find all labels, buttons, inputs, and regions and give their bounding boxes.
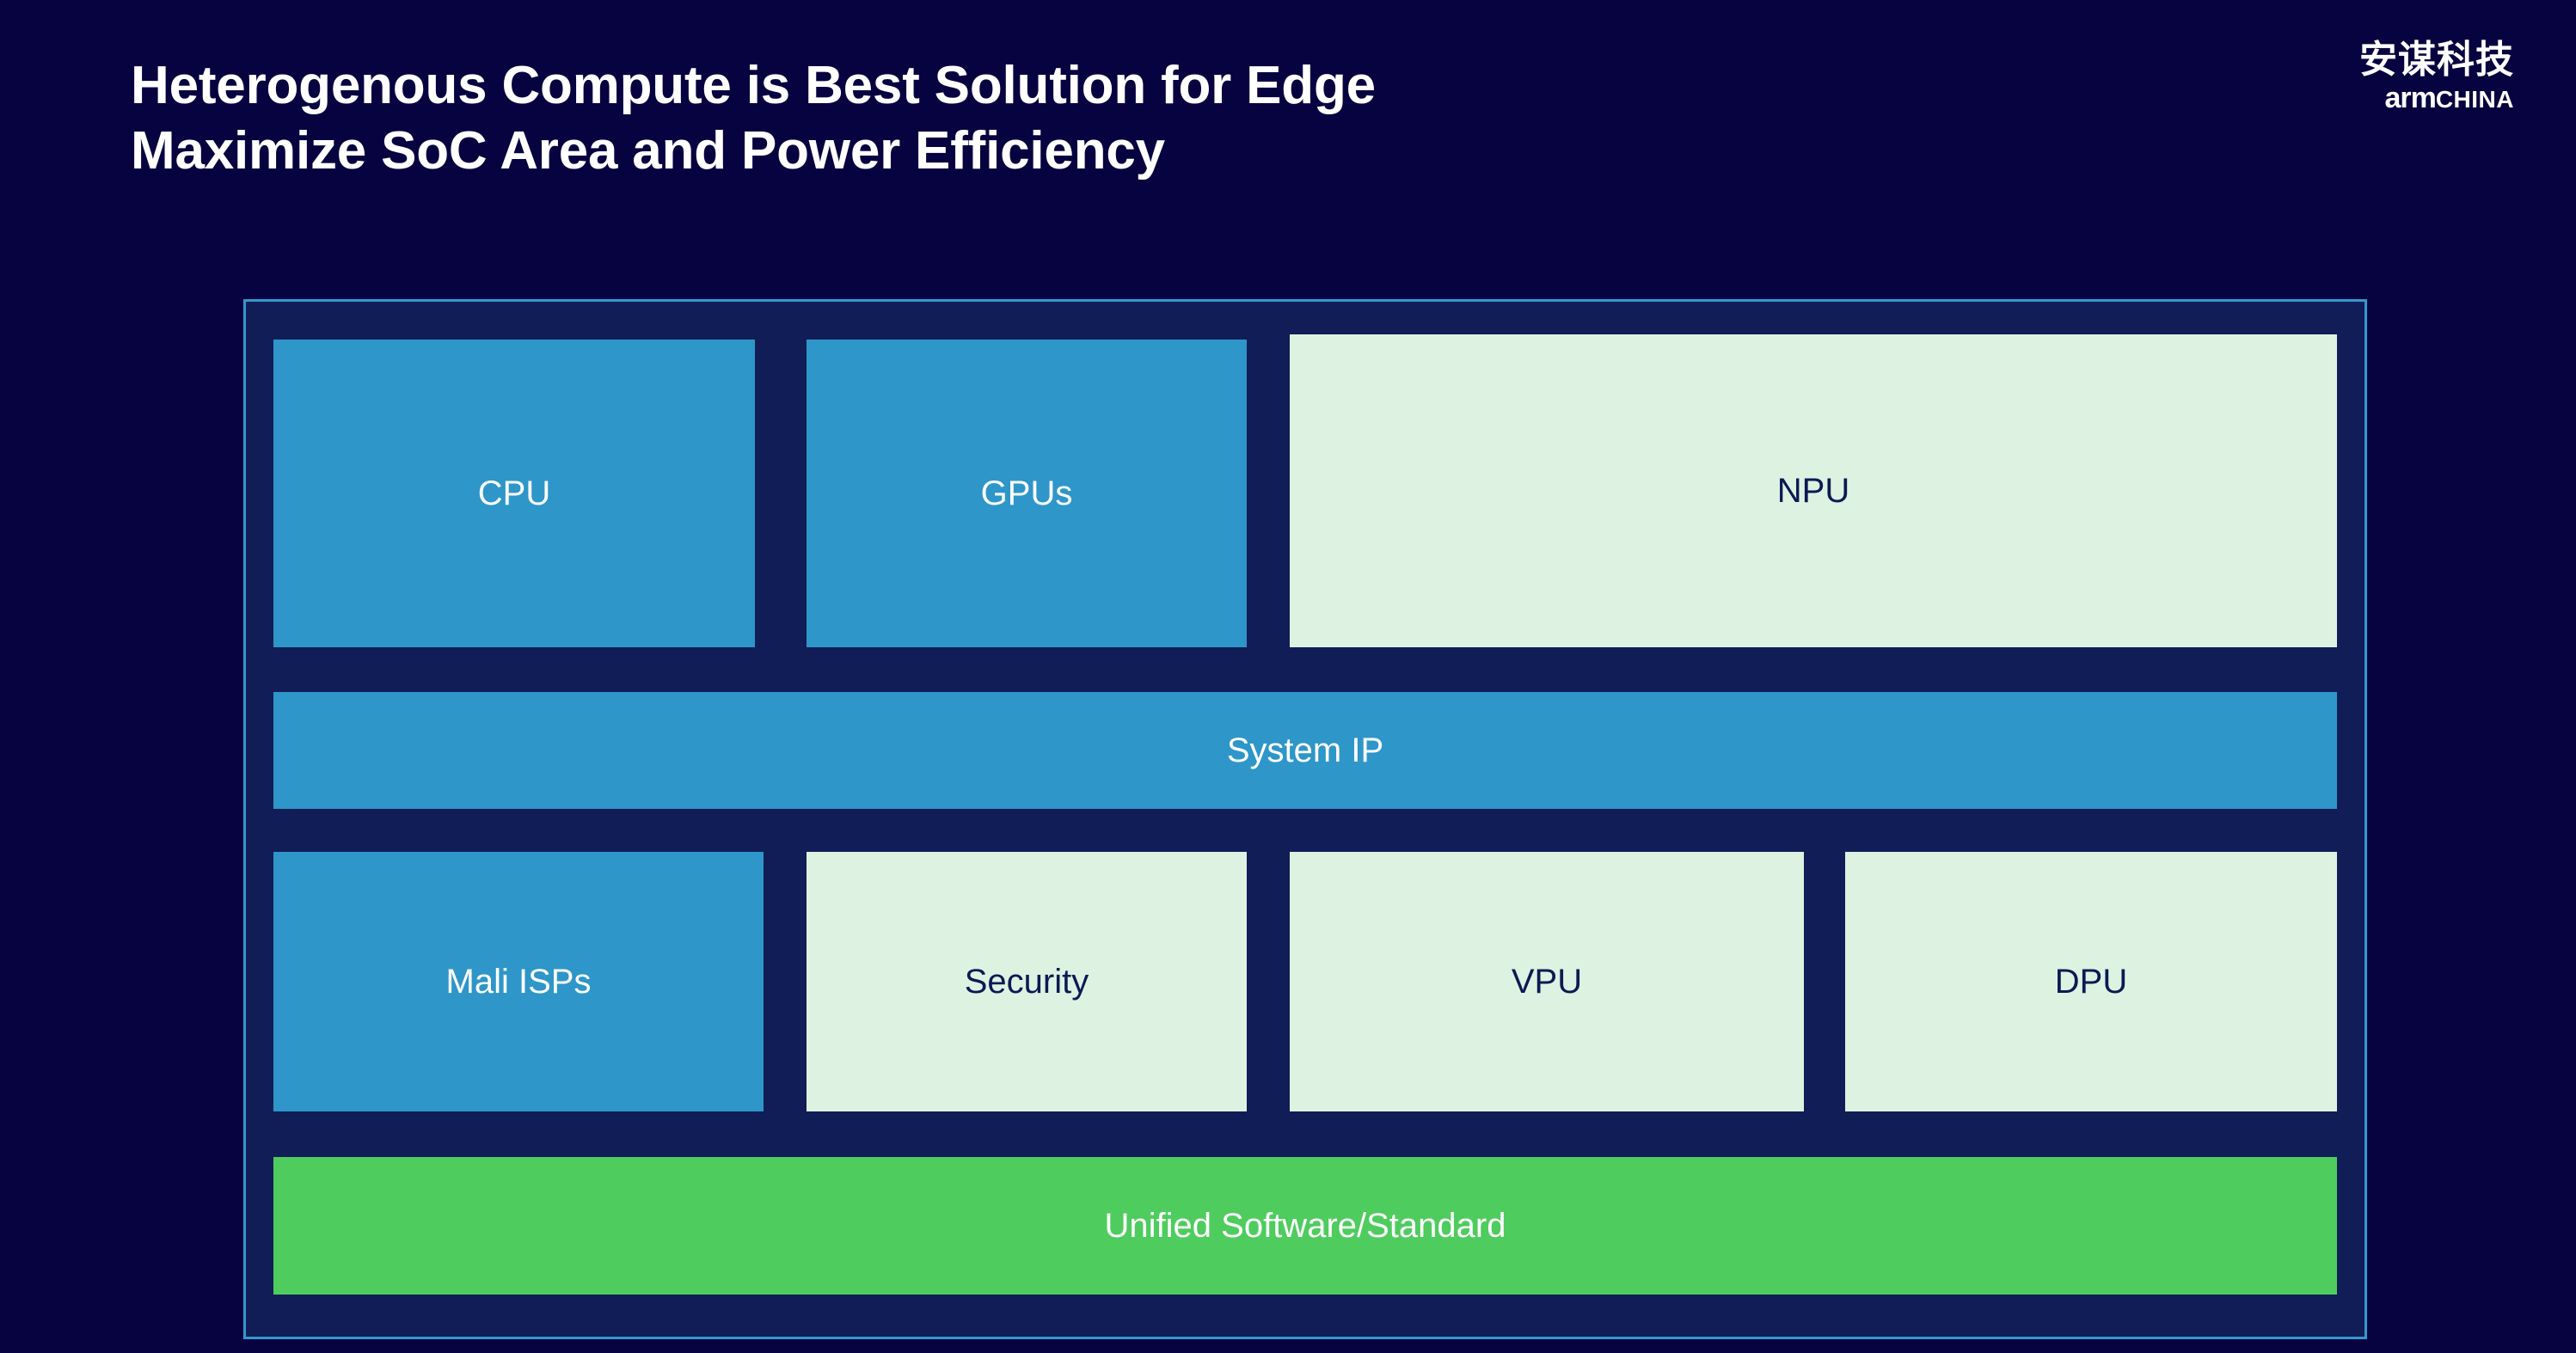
block-vpu[interactable]: VPU (1290, 852, 1804, 1111)
block-cpu[interactable]: CPU (273, 340, 755, 647)
block-npu[interactable]: NPU (1290, 334, 2337, 647)
page-title: Heterogenous Compute is Best Solution fo… (131, 53, 2177, 183)
block-unified-software[interactable]: Unified Software/Standard (273, 1157, 2337, 1295)
logo-chinese-name: 安谋科技 (2359, 41, 2514, 80)
logo-arm-text: arm (2384, 82, 2435, 114)
logo-china-text: CHINA (2436, 86, 2514, 113)
arm-china-logo: 安谋科技 armCHINA (2359, 41, 2514, 113)
block-mali-isps[interactable]: Mali ISPs (273, 852, 764, 1111)
logo-latin-name: armCHINA (2359, 83, 2514, 113)
soc-architecture-diagram: CPU GPUs NPU System IP Mali ISPs Securit… (243, 299, 2367, 1339)
block-dpu[interactable]: DPU (1845, 852, 2337, 1111)
block-gpus[interactable]: GPUs (807, 340, 1247, 647)
block-security[interactable]: Security (807, 852, 1247, 1111)
block-system-ip[interactable]: System IP (273, 692, 2337, 809)
